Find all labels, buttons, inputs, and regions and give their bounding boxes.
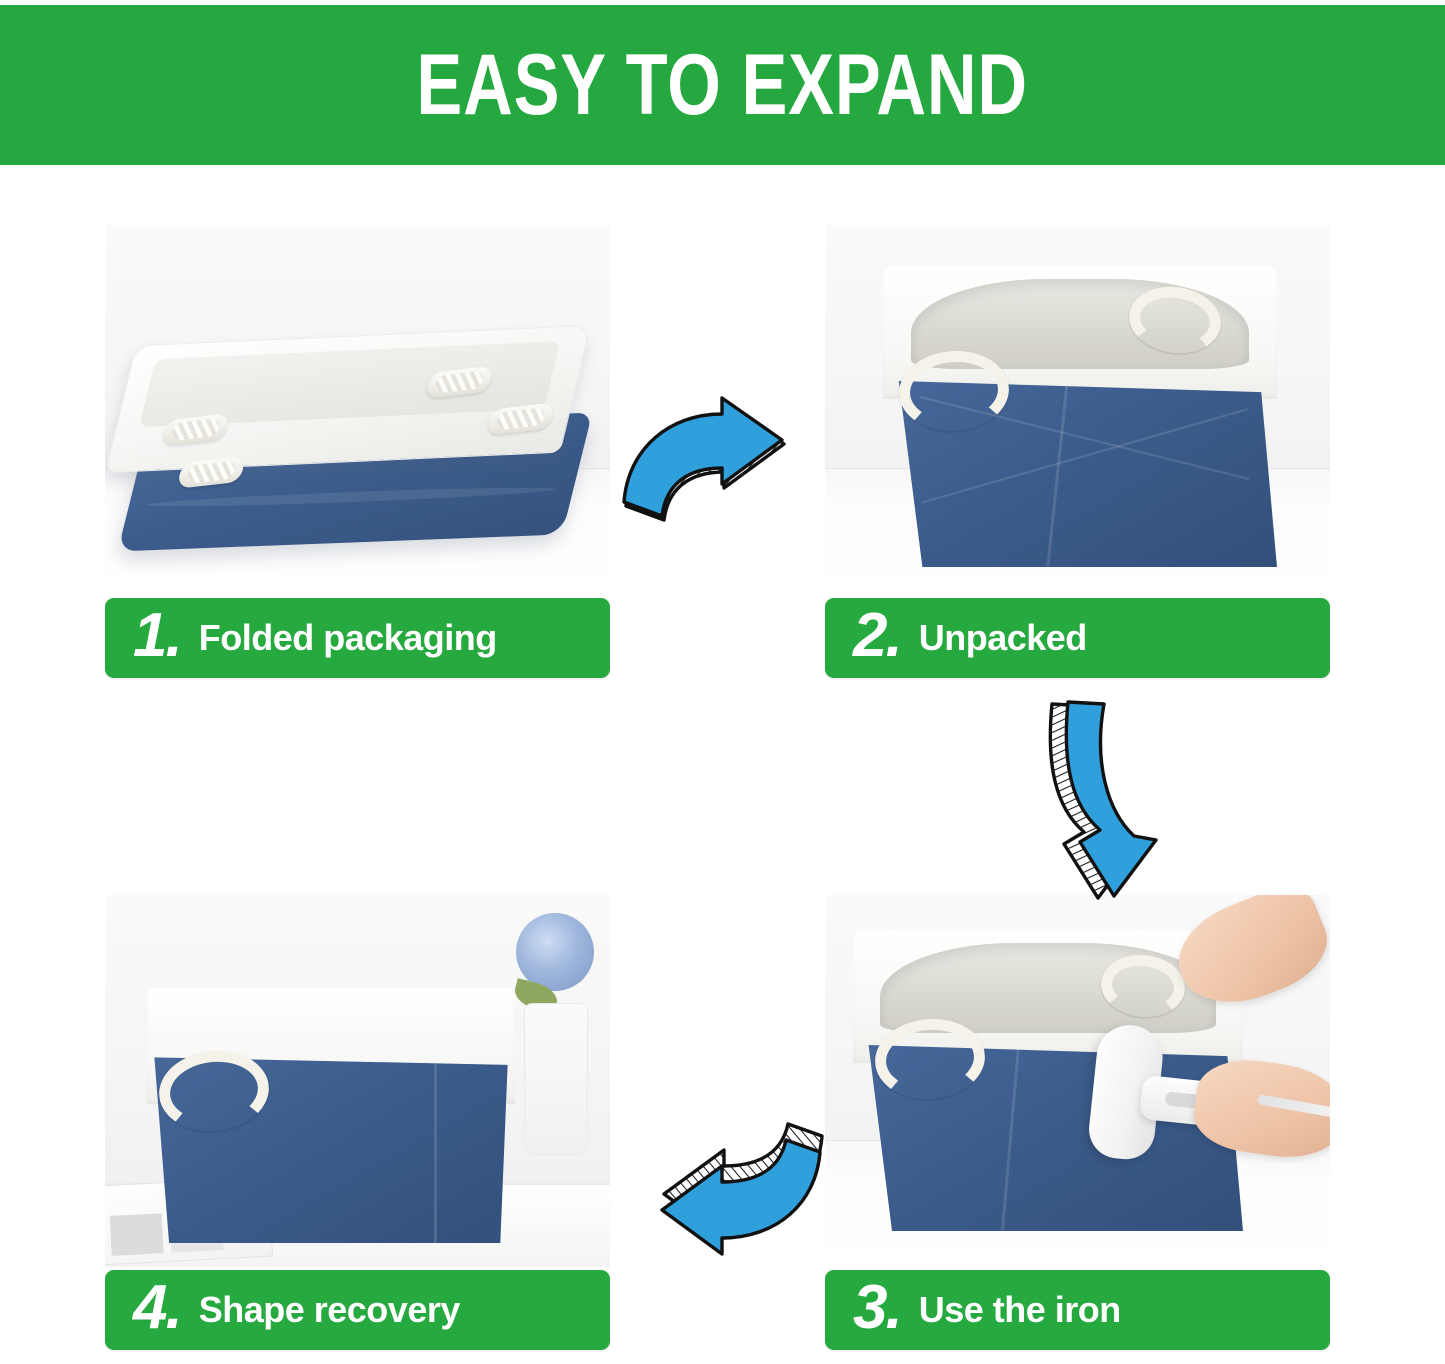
header-banner: EASY TO EXPAND: [0, 5, 1445, 165]
storage-basket: [147, 953, 515, 1243]
folded-white-panel: [105, 325, 591, 473]
step-card-4: 4. Shape recovery: [105, 895, 610, 1350]
step-2-caption: 2. Unpacked: [825, 598, 1330, 678]
arrow-step2-to-step3: [1022, 692, 1202, 912]
fabric-crease: [1047, 381, 1069, 566]
step-4-caption: 4. Shape recovery: [105, 1270, 610, 1350]
step-1-photo: [105, 225, 610, 595]
fabric-crease: [434, 1057, 437, 1243]
step-1-label: Folded packaging: [199, 620, 497, 656]
arrow-step3-to-step4: [612, 1122, 832, 1272]
step-card-1: 1. Folded packaging: [105, 225, 610, 678]
step-4-photo: [105, 895, 610, 1267]
step-3-photo: [825, 895, 1330, 1267]
step-2-photo: [825, 225, 1330, 595]
decorative-flower: [516, 913, 594, 991]
arrow-step1-to-step2: [620, 392, 820, 542]
step-1-caption: 1. Folded packaging: [105, 598, 610, 678]
step-4-label: Shape recovery: [199, 1292, 460, 1328]
step-2-number: 2.: [853, 605, 901, 667]
step-3-label: Use the iron: [919, 1292, 1121, 1328]
step-3-number: 3.: [853, 1277, 901, 1339]
step-1-number: 1.: [133, 605, 181, 667]
step-4-number: 4.: [133, 1277, 181, 1339]
step-3-caption: 3. Use the iron: [825, 1270, 1330, 1350]
fabric-crease: [1001, 1045, 1020, 1231]
flower-vase: [524, 1003, 588, 1155]
step-card-2: 2. Unpacked: [825, 225, 1330, 678]
storage-basket: [883, 267, 1277, 567]
step-card-3: 3. Use the iron: [825, 895, 1330, 1350]
step-2-label: Unpacked: [919, 620, 1087, 656]
page-title: EASY TO EXPAND: [417, 42, 1028, 128]
